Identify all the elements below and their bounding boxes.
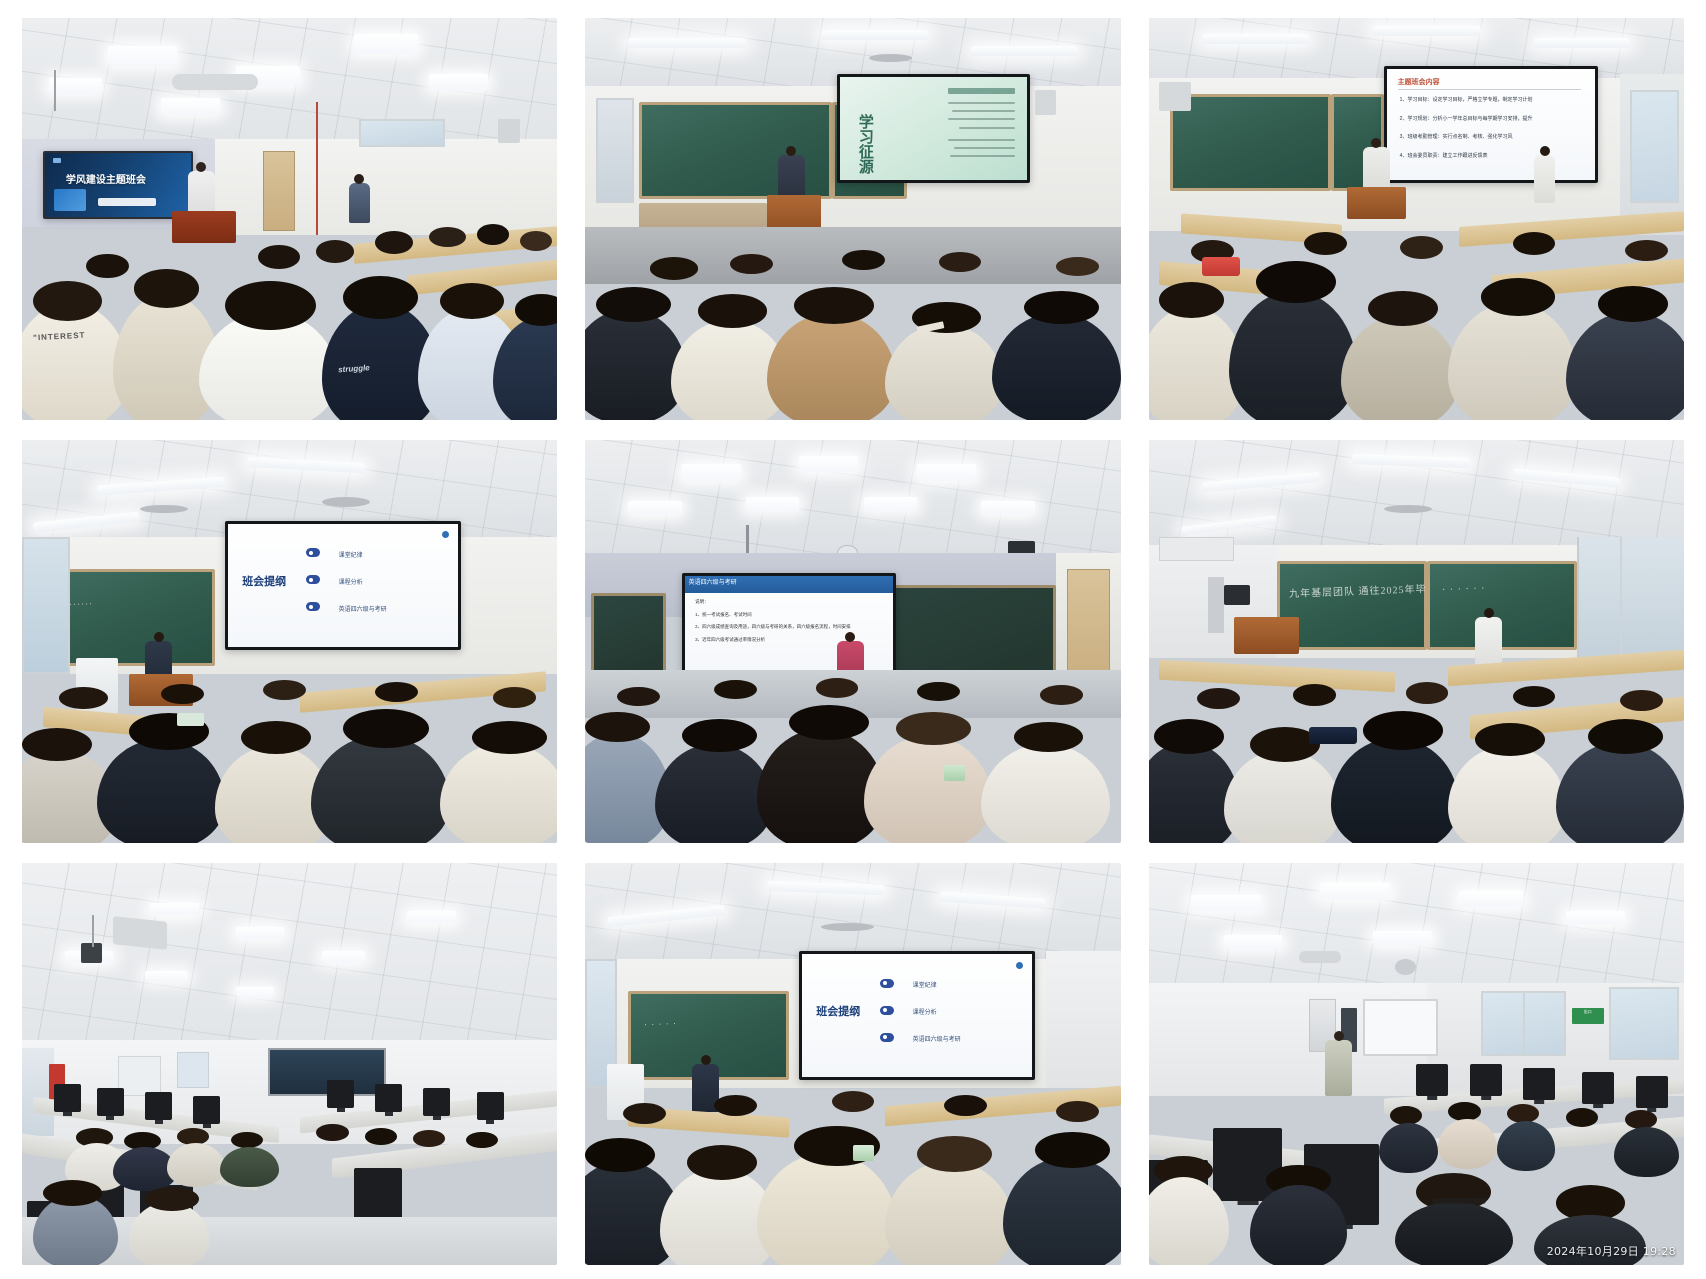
- projector-mount: [54, 70, 56, 110]
- student-crowd: [1149, 650, 1684, 843]
- ac-vent: [1299, 951, 1342, 963]
- ceiling-fan: [1384, 505, 1432, 513]
- logo-icon: [1016, 962, 1023, 969]
- projector-arm: [1208, 577, 1224, 633]
- podium: [1234, 617, 1298, 653]
- photo-collage: 学风建设主题班会: [0, 0, 1706, 1279]
- projection-screen[interactable]: 学习征源: [837, 74, 1030, 183]
- ceiling-lamp: [354, 34, 418, 54]
- student-crowd: [1149, 1056, 1684, 1265]
- water-bottle: [177, 713, 204, 726]
- slide-title: 班会提纲: [242, 573, 286, 589]
- photo-7[interactable]: [22, 863, 557, 1265]
- ac-unit: [113, 916, 167, 950]
- photo-6[interactable]: 九年基层团队 通往2025年毕业生年 · · · · · ·: [1149, 440, 1684, 842]
- photo-2[interactable]: 学习征源: [585, 18, 1120, 420]
- student-crowd: [585, 666, 1120, 843]
- photo-5-scene: 英语四六级与考研 说明： 1、统一考试报名、考试时间 2、四六级成绩查询及用途，…: [585, 440, 1120, 842]
- window: [22, 537, 70, 674]
- outline-item-1: 课堂纪律: [339, 550, 363, 559]
- speaker-box: [498, 119, 519, 143]
- photo-5[interactable]: 英语四六级与考研 说明： 1、统一考试报名、考试时间 2、四六级成绩查询及用途，…: [585, 440, 1120, 842]
- outline-item-2: 课程分析: [913, 1007, 937, 1016]
- bullet-icon: [880, 1006, 894, 1015]
- window: [1630, 90, 1678, 203]
- window: [596, 98, 633, 203]
- slide-title: 学习征源: [855, 114, 876, 174]
- logo-icon: [53, 158, 61, 163]
- bullet-icon: [880, 1033, 894, 1042]
- photo-2-scene: 学习征源: [585, 18, 1120, 420]
- slide-title: 学风建设主题班会: [66, 171, 146, 186]
- photo-4-scene: ······ 班会提纲 课堂纪律 课程分析 英语四六级与考研: [22, 440, 557, 842]
- assistant-person: [1534, 155, 1555, 203]
- slide-title: 班会提纲: [816, 1003, 860, 1019]
- outline-item-3: 英语四六级与考研: [913, 1034, 961, 1043]
- photo-1-scene: 学风建设主题班会: [22, 18, 557, 420]
- exit-sign: 出口: [1572, 1008, 1604, 1024]
- slide-line-2: 1、统一考试报名、考试时间: [695, 612, 752, 618]
- slide-heading-bar: [948, 88, 1015, 94]
- slide-line-3: 3、班级考勤管理：实行点名制、考核、强化学习风: [1400, 133, 1585, 143]
- slide-line-1: 1、学习目标：设定学习目标，严格立学专题，制定学习计划: [1400, 96, 1585, 106]
- bullet-icon: [306, 575, 320, 584]
- water-bottle: [853, 1145, 874, 1160]
- window: [1577, 537, 1684, 658]
- outline-item-2: 课程分析: [339, 577, 363, 586]
- ceiling-fan: [140, 505, 188, 513]
- projector: [1224, 585, 1251, 605]
- photo-6-scene: 九年基层团队 通往2025年毕业生年 · · · · · ·: [1149, 440, 1684, 842]
- student-crowd: [585, 1072, 1120, 1265]
- slide-line-1: 说明：: [695, 599, 709, 605]
- ceiling-lamp: [108, 46, 178, 66]
- speaker-box: [1035, 90, 1056, 114]
- logo-icon: [442, 531, 449, 538]
- photo-9-scene: 出口: [1149, 863, 1684, 1265]
- photo-3-scene: 主题班会内容 1、学习目标：设定学习目标，严格立学专题，制定学习计划 2、学习规…: [1149, 18, 1684, 420]
- window-upper: [359, 119, 445, 147]
- projection-screen[interactable]: 主题班会内容 1、学习目标：设定学习目标，严格立学专题，制定学习计划 2、学习规…: [1384, 66, 1598, 183]
- photo-8[interactable]: · · · · · 班会提纲 课堂纪律 课程分析 英语四六级与考研: [585, 863, 1120, 1265]
- speaker-box: [1159, 82, 1191, 110]
- slide-title: 英语四六级与考研: [685, 576, 893, 593]
- outline-item-3: 英语四六级与考研: [339, 604, 387, 613]
- projection-screen[interactable]: 班会提纲 课堂纪律 课程分析 英语四六级与考研: [799, 951, 1035, 1080]
- student-crowd: [1149, 211, 1684, 420]
- photo-9[interactable]: 出口: [1149, 863, 1684, 1265]
- student-crowd: [22, 658, 557, 843]
- timestamp-watermark: 2024年10月29日 19:28: [1547, 1243, 1676, 1259]
- blackboard-side: [591, 593, 666, 673]
- photo-1[interactable]: 学风建设主题班会: [22, 18, 557, 420]
- water-bottle: [944, 765, 965, 781]
- outline-item-1: 课堂纪律: [913, 980, 937, 989]
- backpack: [1309, 727, 1357, 744]
- projection-screen[interactable]: 班会提纲 课堂纪律 课程分析 英语四六级与考研: [225, 521, 461, 650]
- slide-line-4: 3、近年四六级考试通过率情况分析: [695, 637, 765, 643]
- ceiling-lamp: [161, 98, 220, 114]
- slide-title: 主题班会内容: [1398, 77, 1440, 87]
- blackboard: ······: [54, 569, 215, 666]
- student-crowd: "INTEREST struggle: [22, 195, 557, 420]
- window-upper: [1159, 537, 1234, 561]
- slide-line-2: 2、学习规划：分析小一学年总目标与每学期学习安排，提升: [1400, 115, 1585, 125]
- photo-7-scene: [22, 863, 557, 1265]
- ceiling-lamp: [49, 78, 103, 94]
- backpack: [1202, 257, 1239, 276]
- bullet-icon: [306, 548, 320, 557]
- bullet-icon: [880, 979, 894, 988]
- photo-4[interactable]: ······ 班会提纲 课堂纪律 课程分析 英语四六级与考研: [22, 440, 557, 842]
- blackboard: [1170, 94, 1331, 191]
- mic-mount: [746, 525, 749, 553]
- whiteboard: [1363, 999, 1438, 1055]
- student-crowd: [585, 235, 1120, 420]
- blackboard: 九年基层团队 通往2025年毕业生年: [1277, 561, 1427, 650]
- glasses-icon: [1432, 1198, 1486, 1204]
- slide-line-3: 2、四六级成绩查询及用途，四六级与考研的关系，四六级报名流程，时间安排: [695, 624, 884, 630]
- photo-3[interactable]: 主题班会内容 1、学习目标：设定学习目标，严格立学专题，制定学习计划 2、学习规…: [1149, 18, 1684, 420]
- projector-mount: [92, 915, 94, 947]
- student-crowd: [22, 1080, 557, 1265]
- ceiling-fan: [322, 497, 370, 507]
- ceiling-lamp: [429, 74, 488, 90]
- bullet-icon: [306, 602, 320, 611]
- ac-vent: [172, 74, 258, 90]
- photo-8-scene: · · · · · 班会提纲 课堂纪律 课程分析 英语四六级与考研: [585, 863, 1120, 1265]
- slide-line-4: 4、班会委员职责：建立工作跟进反馈表: [1400, 152, 1585, 162]
